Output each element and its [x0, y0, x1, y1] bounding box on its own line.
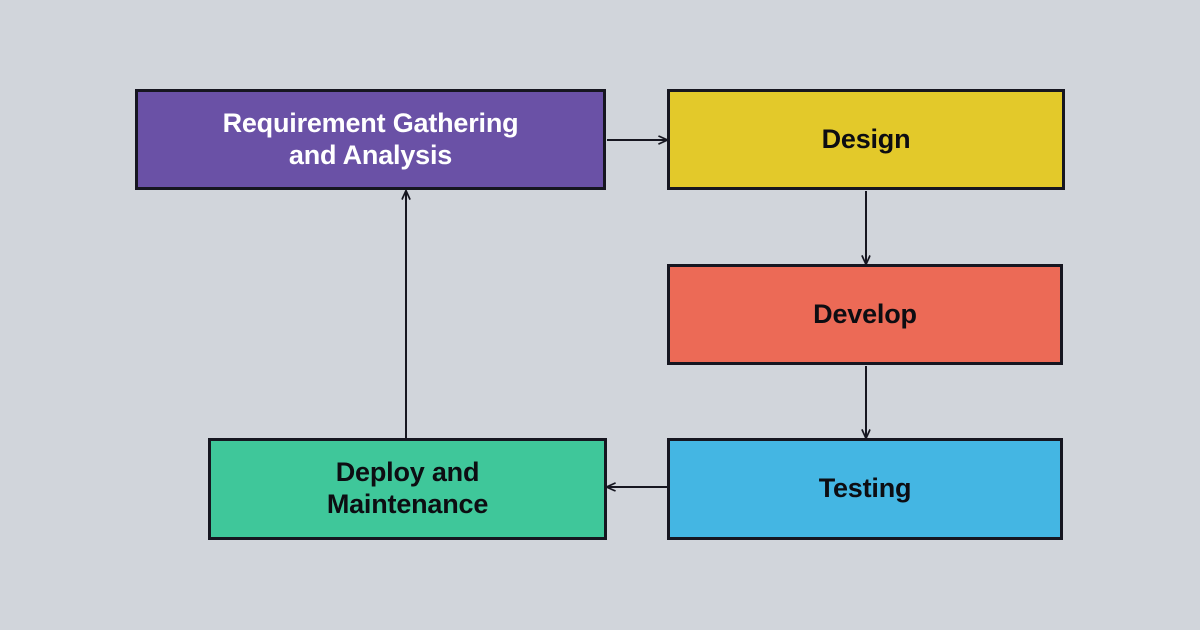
node-label: Requirement Gathering and Analysis [213, 108, 529, 171]
diagram-canvas: Requirement Gathering and Analysis Desig… [0, 0, 1200, 630]
node-label: Deploy and Maintenance [317, 457, 498, 520]
node-label: Design [812, 124, 921, 156]
node-develop[interactable]: Develop [667, 264, 1063, 365]
node-label: Develop [803, 299, 927, 331]
node-deploy-and-maintenance[interactable]: Deploy and Maintenance [208, 438, 607, 540]
node-testing[interactable]: Testing [667, 438, 1063, 540]
node-design[interactable]: Design [667, 89, 1065, 190]
node-label: Testing [809, 473, 922, 505]
node-requirement-gathering-and-analysis[interactable]: Requirement Gathering and Analysis [135, 89, 606, 190]
